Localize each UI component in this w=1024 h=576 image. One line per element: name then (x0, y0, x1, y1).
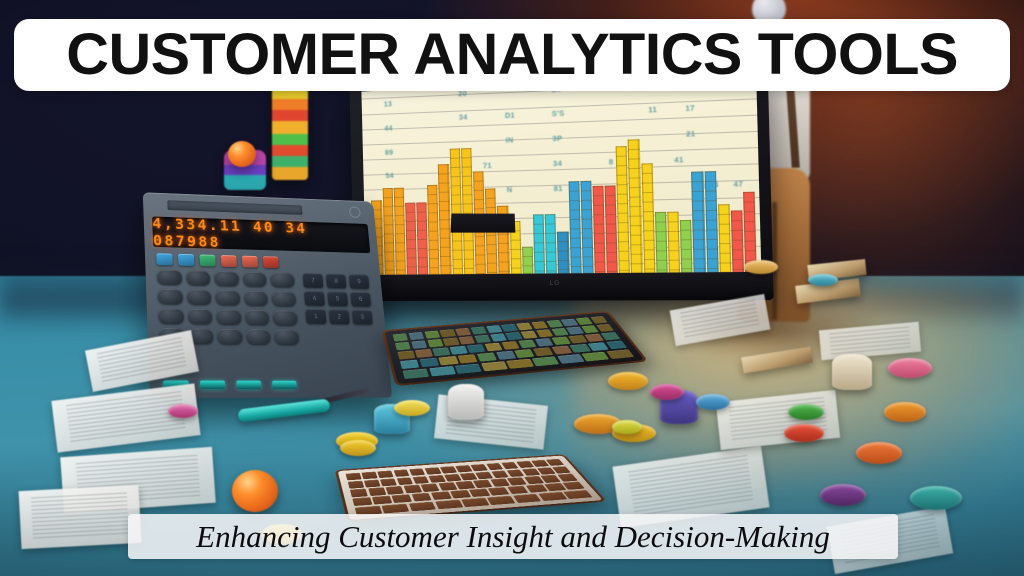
keyboard-key[interactable] (393, 333, 409, 341)
keyboard-key[interactable] (352, 497, 372, 506)
keyboard-key[interactable] (382, 504, 410, 514)
keyboard-key[interactable] (421, 484, 440, 492)
calculator-key[interactable] (243, 272, 267, 287)
spreadsheet-cell: S'S (552, 111, 565, 119)
keyboard-key[interactable] (533, 347, 554, 356)
keyboard-key[interactable] (601, 332, 621, 340)
page-subtitle: Enhancing Customer Insight and Decision-… (196, 521, 830, 552)
chart-bar (641, 163, 655, 272)
keyboard-key[interactable] (458, 354, 478, 363)
keyboard-key[interactable] (440, 466, 457, 473)
keyboard-key[interactable] (501, 341, 520, 350)
calculator-key[interactable] (271, 272, 295, 287)
white-cylinder-container (448, 384, 484, 420)
yellow-token-f (340, 440, 376, 456)
keyboard-key[interactable] (551, 328, 569, 336)
keyboard-key[interactable] (582, 351, 610, 361)
keyboard-key[interactable] (570, 344, 591, 353)
chart-bar (605, 186, 618, 273)
calculator-display: 4,334.11 40 34 087988 (152, 216, 370, 253)
keyboard-key[interactable] (490, 479, 510, 487)
keyboard-key[interactable] (551, 345, 572, 354)
calculator-key[interactable] (216, 309, 241, 324)
calculator-number-key[interactable]: 9 (349, 274, 370, 289)
calculator-print-knob-icon[interactable] (349, 206, 361, 217)
red-token-a (784, 424, 824, 442)
keyboard-key[interactable] (450, 346, 468, 355)
keyboard-key[interactable] (568, 335, 587, 344)
calculator-number-key[interactable]: 1 (305, 309, 326, 324)
spreadsheet-cell: 34 (459, 115, 468, 122)
chart-bar (405, 202, 417, 274)
calculator-number-key[interactable]: 8 (326, 274, 347, 289)
keyboard-key[interactable] (439, 356, 459, 366)
keyboard-key[interactable] (427, 339, 443, 348)
calculator-function-key[interactable] (242, 256, 258, 268)
keyboard-key[interactable] (557, 474, 577, 482)
orange-token-a (608, 372, 648, 390)
chart-bar (416, 202, 428, 275)
keyboard-key[interactable] (473, 480, 492, 488)
keyboard-key[interactable] (408, 332, 424, 340)
keyboard-key[interactable] (516, 323, 533, 331)
keyboard-key[interactable] (380, 478, 397, 486)
teal-token-a (808, 274, 838, 286)
keyboard-key[interactable] (408, 502, 436, 512)
keyboard-key[interactable] (428, 475, 445, 483)
calculator-number-key[interactable]: 3 (352, 310, 373, 325)
keyboard-key[interactable] (590, 316, 608, 324)
calculator-bottom-key[interactable] (272, 381, 297, 390)
calculator-key[interactable] (188, 309, 213, 324)
keyboard-key[interactable] (460, 473, 478, 481)
keyboard-key[interactable] (477, 352, 497, 361)
keyboard-key[interactable] (521, 331, 538, 339)
green-token-a (788, 404, 824, 420)
keyboard-key[interactable] (459, 336, 476, 345)
chart-bar (522, 247, 533, 274)
keyboard-key[interactable] (396, 477, 413, 485)
keyboard-key[interactable] (409, 468, 426, 476)
keyboard-key[interactable] (484, 343, 503, 352)
keyboard-key[interactable] (400, 359, 420, 369)
blue-token-a (696, 394, 730, 410)
calculator-function-key[interactable] (156, 253, 173, 265)
keyboard-key[interactable] (403, 485, 422, 493)
keyboard-key[interactable] (392, 494, 412, 503)
keyboard-key[interactable] (424, 331, 440, 339)
keyboard-key[interactable] (411, 340, 427, 349)
calculator-bottom-key[interactable] (200, 381, 225, 390)
orange-token-d (856, 442, 902, 464)
keyboard-key[interactable] (455, 465, 472, 472)
spreadsheet-cell: 20 (458, 90, 467, 98)
keyboard-key[interactable] (531, 321, 548, 329)
keyboard-key[interactable] (501, 462, 519, 469)
calculator-key[interactable] (157, 270, 182, 285)
chart-bar (628, 140, 643, 273)
yellow-token-b (394, 400, 430, 416)
keyboard-key[interactable] (471, 464, 488, 471)
calculator-key[interactable] (273, 310, 297, 325)
spreadsheet-cell: 17 (685, 106, 695, 114)
yellow-token-d (612, 420, 642, 434)
chart-bar (533, 214, 545, 273)
calculator-key[interactable] (158, 289, 183, 304)
calculator-function-key[interactable] (199, 254, 215, 266)
teal-token-b (910, 486, 962, 510)
keyboard-key[interactable] (393, 469, 409, 477)
monitor-bezel: 13448954203471D1INN1/PS'S3P3481867 S7 O8… (349, 66, 773, 301)
keyboard-key[interactable] (429, 366, 456, 377)
keyboard-key[interactable] (455, 328, 471, 336)
keyboard-key[interactable] (490, 333, 507, 341)
keyboard-key[interactable] (411, 493, 432, 502)
keyboard-key[interactable] (443, 338, 460, 347)
desktop-monitor: 13448954203471D1INN1/PS'S3P3481867 S7 O8… (349, 66, 773, 301)
calculator-number-key[interactable]: 6 (350, 292, 371, 307)
calculator-key[interactable] (244, 291, 268, 306)
keyboard-key[interactable] (467, 344, 485, 353)
keyboard-key[interactable] (538, 492, 567, 501)
keyboard-key[interactable] (444, 474, 461, 482)
keyboard-key[interactable] (440, 329, 456, 337)
rainbow-stacked-column (272, 88, 308, 180)
keyboard-key[interactable] (546, 320, 563, 328)
monitor-brand-logo: LG (550, 281, 561, 287)
keyboard-key[interactable] (535, 338, 554, 347)
keyboard-key[interactable] (481, 361, 508, 371)
keyboard-key[interactable] (488, 487, 510, 496)
keyboard-key[interactable] (435, 500, 463, 510)
calculator-number-key[interactable]: 4 (304, 291, 325, 306)
keyboard-key[interactable] (470, 327, 487, 335)
chart-bar (704, 171, 718, 272)
keyboard-key[interactable] (496, 351, 516, 360)
chart-bar (568, 181, 581, 274)
calculator-number-key[interactable]: 5 (327, 291, 348, 306)
calculator-key[interactable] (245, 310, 270, 325)
purple-token-a (820, 484, 866, 506)
keyboard-key[interactable] (395, 342, 411, 351)
keyboard-key[interactable] (552, 336, 571, 345)
chart-bar (427, 184, 440, 274)
tan-token-a (744, 260, 778, 274)
keyboard-key[interactable] (491, 470, 509, 478)
spreadsheet-cell: 13 (384, 101, 393, 108)
pink-token-c (888, 358, 932, 378)
keyboard-key[interactable] (419, 358, 439, 368)
keyboard-key[interactable] (563, 490, 592, 499)
chart-bar (680, 220, 693, 272)
calculator-display-value: 4,334.11 40 34 087988 (152, 215, 363, 255)
calculator-function-key-row[interactable] (156, 253, 279, 268)
chart-bar (557, 232, 569, 274)
chart-bar (461, 148, 475, 274)
monitor-screen: 13448954203471D1INN1/PS'S3P3481867 S7 O8… (361, 73, 761, 274)
keyboard-key[interactable] (362, 472, 378, 480)
keyboard-key[interactable] (518, 340, 537, 349)
document-sheet-lower-left (19, 485, 142, 549)
keyboard-key[interactable] (469, 488, 490, 497)
poster-canvas: 13448954203471D1INN1/PS'S3P3481867 S7 O8… (0, 0, 1024, 576)
orange-sphere-desk (232, 470, 278, 512)
keyboard-key[interactable] (456, 481, 475, 489)
keyboard-key[interactable] (412, 476, 429, 484)
calculator-key[interactable] (186, 270, 211, 285)
chart-bar (545, 214, 557, 274)
keyboard-key[interactable] (486, 463, 504, 470)
calculator-key[interactable] (274, 329, 299, 344)
keyboard-key[interactable] (438, 482, 457, 490)
calculator-function-key[interactable] (263, 256, 279, 268)
keyboard-key[interactable] (606, 349, 634, 359)
keyboard-key[interactable] (368, 487, 386, 495)
keyboard-key[interactable] (372, 496, 392, 505)
chart-bar (580, 180, 593, 273)
keyboard-key[interactable] (557, 354, 585, 364)
keyboard-key[interactable] (474, 335, 491, 343)
pink-token-a (168, 404, 198, 418)
keyboard-key[interactable] (431, 491, 452, 500)
keyboard-key[interactable] (486, 325, 503, 333)
chart-bar (393, 188, 405, 275)
chart-bar (731, 210, 744, 272)
chart-bar (691, 171, 705, 272)
keyboard-key[interactable] (506, 359, 533, 369)
calculator-key[interactable] (187, 289, 212, 304)
chart-bar (382, 188, 394, 274)
calculator-key[interactable] (214, 271, 239, 286)
spreadsheet-cell: 11 (648, 107, 657, 115)
keyboard-key[interactable] (415, 349, 433, 358)
calculator-function-key[interactable] (178, 254, 194, 266)
subtitle-band: Enhancing Customer Insight and Decision-… (128, 514, 898, 559)
calculator-key[interactable] (215, 290, 240, 305)
bar-chart (370, 117, 757, 275)
keyboard-key[interactable] (588, 342, 609, 351)
calculator-key[interactable] (217, 329, 242, 344)
pink-token-b (650, 384, 684, 400)
keyboard-key[interactable] (386, 486, 404, 494)
keyboard-key[interactable] (487, 496, 516, 505)
chart-bar (592, 186, 605, 273)
spreadsheet-cell: D1 (505, 113, 515, 121)
chart-bar (655, 212, 668, 273)
keyboard-key[interactable] (507, 477, 527, 485)
keyboard-key[interactable] (348, 481, 364, 489)
keyboard-key[interactable] (450, 490, 471, 499)
keyboard-key[interactable] (507, 486, 529, 495)
keyboard-key[interactable] (526, 484, 548, 492)
keyboard-key[interactable] (475, 472, 493, 480)
keyboard-key[interactable] (402, 368, 429, 379)
page-title: CUSTOMER ANALYTICS TOOLS (66, 26, 958, 84)
keyboard-key[interactable] (461, 498, 489, 508)
calculator-function-key[interactable] (221, 255, 237, 267)
keyboard-key[interactable] (532, 356, 560, 366)
keyboard-key[interactable] (432, 347, 450, 356)
calculator-number-pad[interactable]: 789456123 (303, 273, 373, 324)
keyboard-key[interactable] (514, 349, 535, 358)
monitor-chin: LG (354, 272, 774, 301)
chart-bar (718, 204, 731, 272)
calculator-number-key[interactable]: 2 (329, 309, 350, 324)
keyboard-key[interactable] (536, 329, 553, 337)
calculator-key[interactable] (246, 329, 271, 344)
keyboard-key[interactable] (350, 489, 368, 498)
chart-bar (667, 211, 680, 272)
orange-token-c (884, 402, 926, 422)
keyboard-key[interactable] (606, 340, 627, 349)
keyboard-key[interactable] (346, 473, 362, 481)
calculator-paper-slot (167, 200, 303, 215)
cream-cylinder (832, 354, 872, 390)
monitor-stand (450, 214, 515, 233)
calculator-number-key[interactable]: 7 (303, 273, 324, 288)
calculator-key[interactable] (158, 308, 183, 323)
keyboard-key[interactable] (513, 494, 542, 503)
keyboard-key[interactable] (455, 363, 482, 373)
keyboard-key[interactable] (364, 479, 380, 487)
keyboard-key[interactable] (501, 324, 518, 332)
orange-sphere-on-jar (228, 141, 256, 167)
keyboard-key[interactable] (505, 332, 522, 340)
calculator-bottom-key[interactable] (236, 381, 261, 390)
keyboard-key[interactable] (596, 324, 614, 332)
title-banner: CUSTOMER ANALYTICS TOOLS (14, 19, 1010, 91)
calculator-key[interactable] (272, 291, 296, 306)
keyboard-key[interactable] (397, 350, 415, 359)
keyboard-key[interactable] (424, 467, 441, 475)
keyboard-key[interactable] (377, 470, 393, 478)
